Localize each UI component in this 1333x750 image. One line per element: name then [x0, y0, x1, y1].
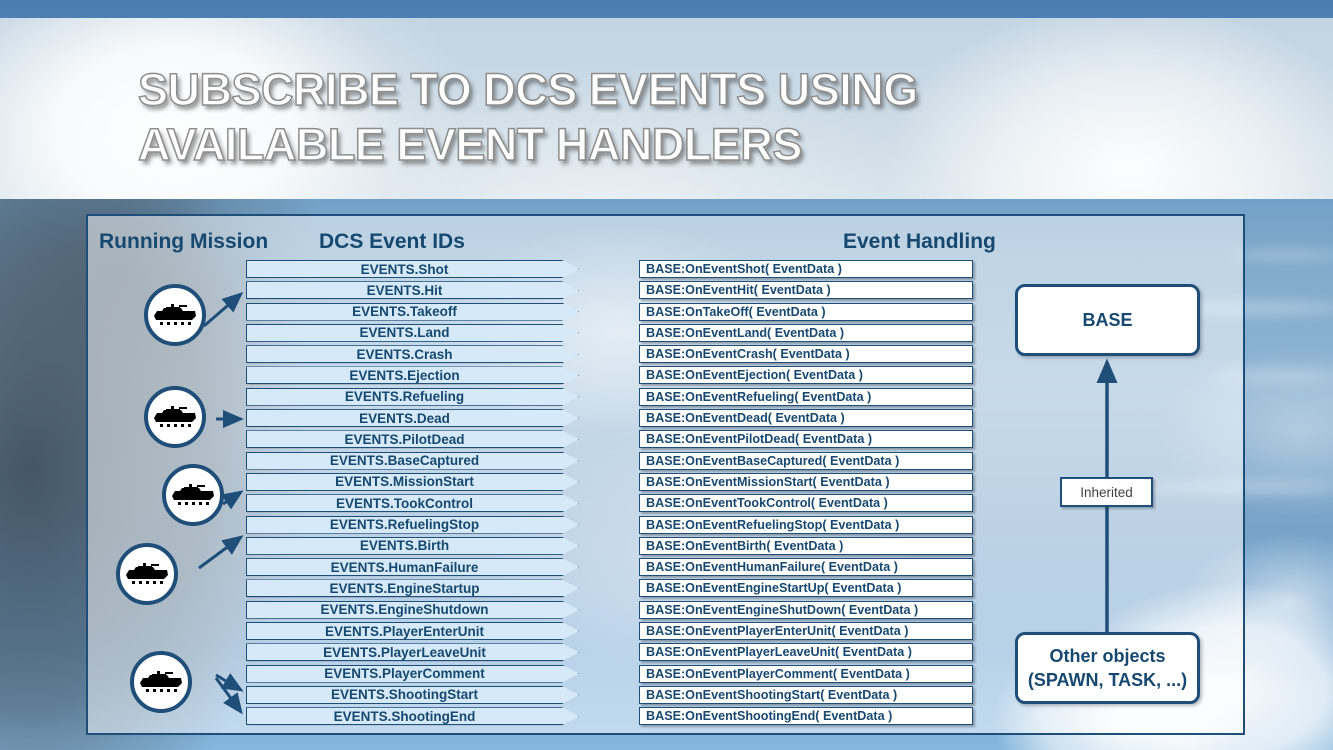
- event-id-item[interactable]: EVENTS.Ejection: [246, 366, 579, 384]
- diagram-panel: Running Mission DCS Event IDs Event Hand…: [86, 214, 1245, 735]
- event-id-item[interactable]: EVENTS.MissionStart: [246, 473, 579, 491]
- event-id-item[interactable]: EVENTS.Hit: [246, 281, 579, 299]
- armored-vehicle-icon: [138, 670, 184, 694]
- event-handler-item[interactable]: BASE:OnEventPilotDead( EventData ): [639, 430, 973, 448]
- event-handler-item[interactable]: BASE:OnEventHit( EventData ): [639, 281, 973, 299]
- page-title: Subscribe to DCS events using available …: [138, 63, 1138, 173]
- event-handler-item[interactable]: BASE:OnEventShot( EventData ): [639, 260, 973, 278]
- event-id-item[interactable]: EVENTS.RefuelingStop: [246, 516, 579, 534]
- armored-vehicle-icon: [152, 303, 198, 327]
- event-id-item[interactable]: EVENTS.PilotDead: [246, 430, 579, 448]
- arrow-unit1: [204, 294, 241, 326]
- event-id-item[interactable]: EVENTS.ShootingEnd: [246, 707, 579, 725]
- event-id-item[interactable]: EVENTS.Takeoff: [246, 303, 579, 321]
- event-id-item[interactable]: EVENTS.EngineStartup: [246, 579, 579, 597]
- unit-icon-5[interactable]: [130, 651, 192, 713]
- event-handler-item[interactable]: BASE:OnEventBaseCaptured( EventData ): [639, 452, 973, 470]
- cloud-streak: [1230, 250, 1333, 260]
- event-handler-item[interactable]: BASE:OnEventBirth( EventData ): [639, 537, 973, 555]
- event-id-item[interactable]: EVENTS.TookControl: [246, 494, 579, 512]
- unit-icon-3[interactable]: [162, 464, 224, 526]
- event-id-item[interactable]: EVENTS.Refueling: [246, 388, 579, 406]
- arrow-unit5-b: [216, 678, 241, 712]
- event-id-item[interactable]: EVENTS.ShootingStart: [246, 686, 579, 704]
- armored-vehicle-icon: [152, 405, 198, 429]
- event-handler-item[interactable]: BASE:OnEventEjection( EventData ): [639, 366, 973, 384]
- event-handler-item[interactable]: BASE:OnEventPlayerLeaveUnit( EventData ): [639, 643, 973, 661]
- unit-icon-2[interactable]: [144, 386, 206, 448]
- event-handler-item[interactable]: BASE:OnEventPlayerComment( EventData ): [639, 665, 973, 683]
- event-handler-item[interactable]: BASE:OnEventTookControl( EventData ): [639, 494, 973, 512]
- event-handler-item[interactable]: BASE:OnEventCrash( EventData ): [639, 345, 973, 363]
- event-id-item[interactable]: EVENTS.HumanFailure: [246, 558, 579, 576]
- event-handler-item[interactable]: BASE:OnEventShootingEnd( EventData ): [639, 707, 973, 725]
- event-handler-item[interactable]: BASE:OnEventHumanFailure( EventData ): [639, 558, 973, 576]
- event-id-item[interactable]: EVENTS.EngineShutdown: [246, 601, 579, 619]
- event-id-item[interactable]: EVENTS.Crash: [246, 345, 579, 363]
- title-banner: Subscribe to DCS events using available …: [0, 18, 1333, 199]
- arrow-unit4: [199, 537, 241, 568]
- event-id-item[interactable]: EVENTS.Dead: [246, 409, 579, 427]
- event-id-item[interactable]: EVENTS.PlayerLeaveUnit: [246, 643, 579, 661]
- arrow-unit3: [223, 492, 241, 504]
- event-handler-item[interactable]: BASE:OnEventMissionStart( EventData ): [639, 473, 973, 491]
- inheritance-label: Inherited: [1060, 477, 1153, 507]
- class-box-base[interactable]: BASE: [1015, 284, 1200, 356]
- armored-vehicle-icon: [170, 483, 216, 507]
- event-handler-item[interactable]: BASE:OnTakeOff( EventData ): [639, 303, 973, 321]
- event-handler-list: BASE:OnEventShot( EventData )BASE:OnEven…: [639, 260, 973, 729]
- event-id-item[interactable]: EVENTS.PlayerEnterUnit: [246, 622, 579, 640]
- column-header-dcs-event-ids: DCS Event IDs: [319, 230, 465, 254]
- column-header-running-mission: Running Mission: [99, 230, 268, 254]
- event-id-item[interactable]: EVENTS.Land: [246, 324, 579, 342]
- unit-icon-1[interactable]: [144, 284, 206, 346]
- event-id-item[interactable]: EVENTS.Shot: [246, 260, 579, 278]
- event-handler-item[interactable]: BASE:OnEventRefuelingStop( EventData ): [639, 516, 973, 534]
- armored-vehicle-icon: [124, 562, 170, 586]
- column-header-event-handling: Event Handling: [843, 230, 996, 254]
- event-handler-item[interactable]: BASE:OnEventRefueling( EventData ): [639, 388, 973, 406]
- event-id-item[interactable]: EVENTS.PlayerComment: [246, 665, 579, 683]
- event-handler-item[interactable]: BASE:OnEventDead( EventData ): [639, 409, 973, 427]
- event-id-item[interactable]: EVENTS.BaseCaptured: [246, 452, 579, 470]
- event-handler-item[interactable]: BASE:OnEventEngineStartUp( EventData ): [639, 579, 973, 597]
- arrow-unit5-a: [216, 675, 241, 690]
- event-id-item[interactable]: EVENTS.Birth: [246, 537, 579, 555]
- event-id-list: EVENTS.ShotEVENTS.HitEVENTS.TakeoffEVENT…: [246, 260, 579, 729]
- event-handler-item[interactable]: BASE:OnEventPlayerEnterUnit( EventData ): [639, 622, 973, 640]
- class-box-other-objects[interactable]: Other objects (SPAWN, TASK, ...): [1015, 632, 1200, 704]
- event-handler-item[interactable]: BASE:OnEventEngineShutDown( EventData ): [639, 601, 973, 619]
- event-handler-item[interactable]: BASE:OnEventLand( EventData ): [639, 324, 973, 342]
- slide-canvas: Subscribe to DCS events using available …: [0, 0, 1333, 750]
- unit-icon-4[interactable]: [116, 543, 178, 605]
- event-handler-item[interactable]: BASE:OnEventShootingStart( EventData ): [639, 686, 973, 704]
